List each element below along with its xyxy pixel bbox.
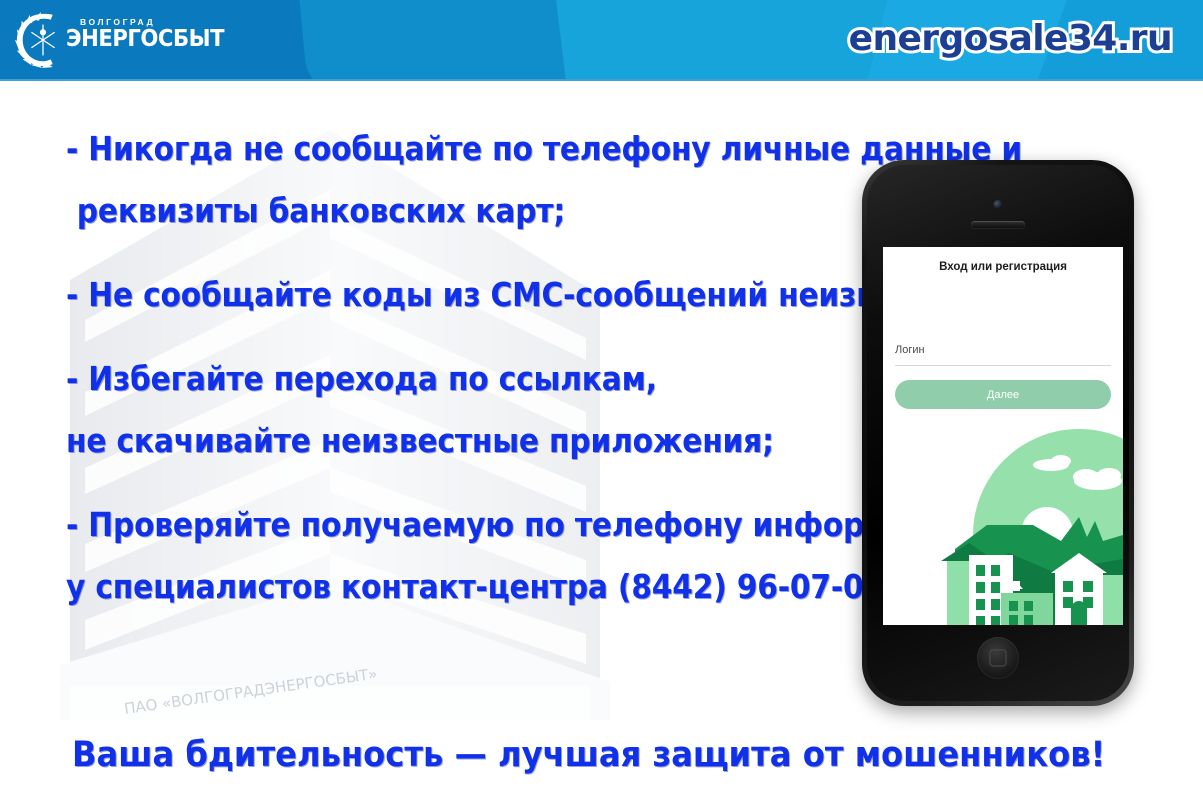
building-sign-text: ПАО «ВОЛГОГРАДЭНЕРГОСБЫТ»: [123, 665, 378, 718]
company-logo[interactable]: ВОЛГОГРАД ЭНЕРГОСБЫТ: [14, 7, 184, 73]
submit-button[interactable]: Далее: [895, 380, 1111, 409]
advice-line: - Не сообщайте коды из СМС-сообщений неи…: [66, 268, 795, 322]
advice-line: - Проверяйте получаемую по телефону инфо…: [66, 498, 795, 552]
site-url-label[interactable]: energosale34.ru: [849, 18, 1172, 59]
login-input-placeholder: Логин: [895, 344, 1111, 356]
advice-line: у специалистов контакт-центра (8442) 96-…: [66, 560, 795, 614]
green-town-illustration: [883, 425, 1123, 625]
earpiece-speaker-icon: [971, 221, 1025, 228]
phone-bezel: Вход или регистрация Логин Далее: [867, 165, 1129, 701]
advice-line: не скачивайте неизвестные приложения;: [66, 414, 795, 468]
header-divider: [0, 79, 1203, 81]
smartphone-mockup: Вход или регистрация Логин Далее: [862, 160, 1134, 706]
home-button[interactable]: [977, 637, 1019, 679]
advice-line: - Никогда не сообщайте по телефону личны…: [66, 122, 795, 176]
phone-screen: Вход или регистрация Логин Далее: [883, 247, 1123, 625]
app-screen-title: Вход или регистрация: [883, 261, 1123, 273]
footer-tagline: Ваша бдительность — лучшая защита от мош…: [72, 733, 1105, 777]
page-header: ВОЛГОГРАД ЭНЕРГОСБЫТ energosale34.ru: [0, 0, 1203, 81]
front-camera-icon: [994, 200, 1003, 209]
login-field[interactable]: Логин: [895, 344, 1111, 366]
poster-canvas: ПАО «ВОЛГОГРАДЭНЕРГОСБЫТ»: [0, 0, 1203, 810]
advice-line: реквизиты банковских карт;: [66, 184, 795, 238]
advice-text-block: - Никогда не сообщайте по телефону личны…: [66, 122, 876, 614]
sun-burst-emblem-icon: [14, 11, 72, 69]
login-field-underline: [895, 365, 1111, 366]
logo-main-text: ЭНЕРГОСБЫТ: [66, 27, 176, 51]
advice-line: - Избегайте перехода по ссылкам,: [66, 352, 795, 406]
